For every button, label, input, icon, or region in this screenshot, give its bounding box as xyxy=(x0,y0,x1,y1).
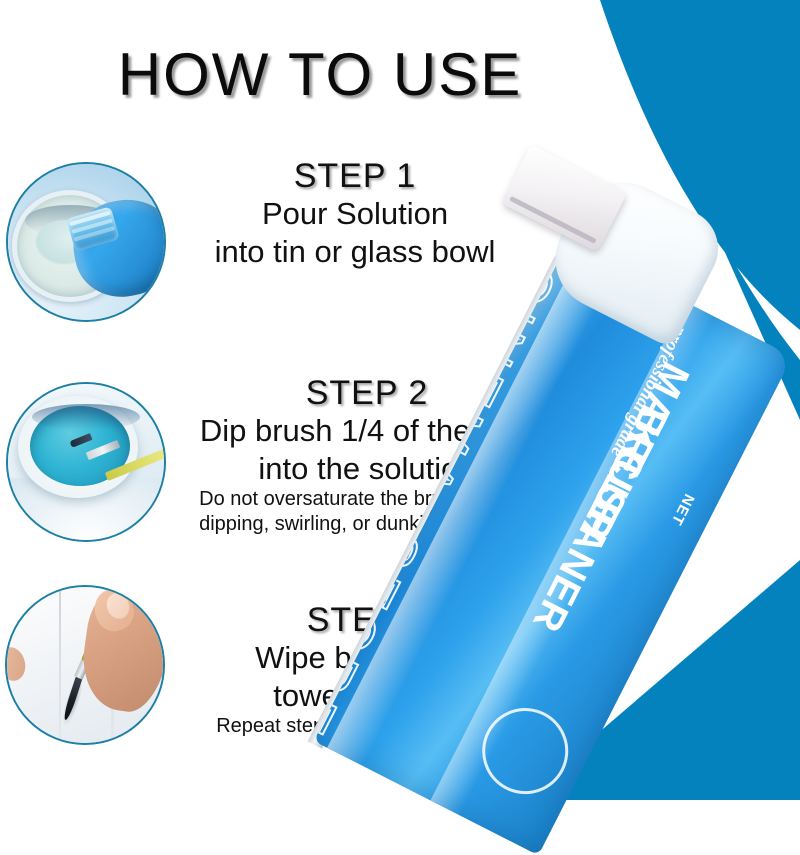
bowl-rim-shadow xyxy=(32,404,140,430)
bottle-label: CINEMA SECRETS professional grade MAKE U… xyxy=(314,242,793,855)
product-bottle: CINEMA SECRETS professional grade MAKE U… xyxy=(472,150,800,750)
step-1-photo xyxy=(6,162,166,322)
infographic-canvas: HOW TO USE STEP 1 Pour Solution into tin… xyxy=(0,0,800,800)
step-3-photo xyxy=(5,585,165,745)
net-weight-label: NET xyxy=(667,491,697,528)
product-line-3: CLEANER xyxy=(523,440,654,639)
step-2-photo xyxy=(6,382,166,542)
page-title: HOW TO USE xyxy=(0,40,640,109)
